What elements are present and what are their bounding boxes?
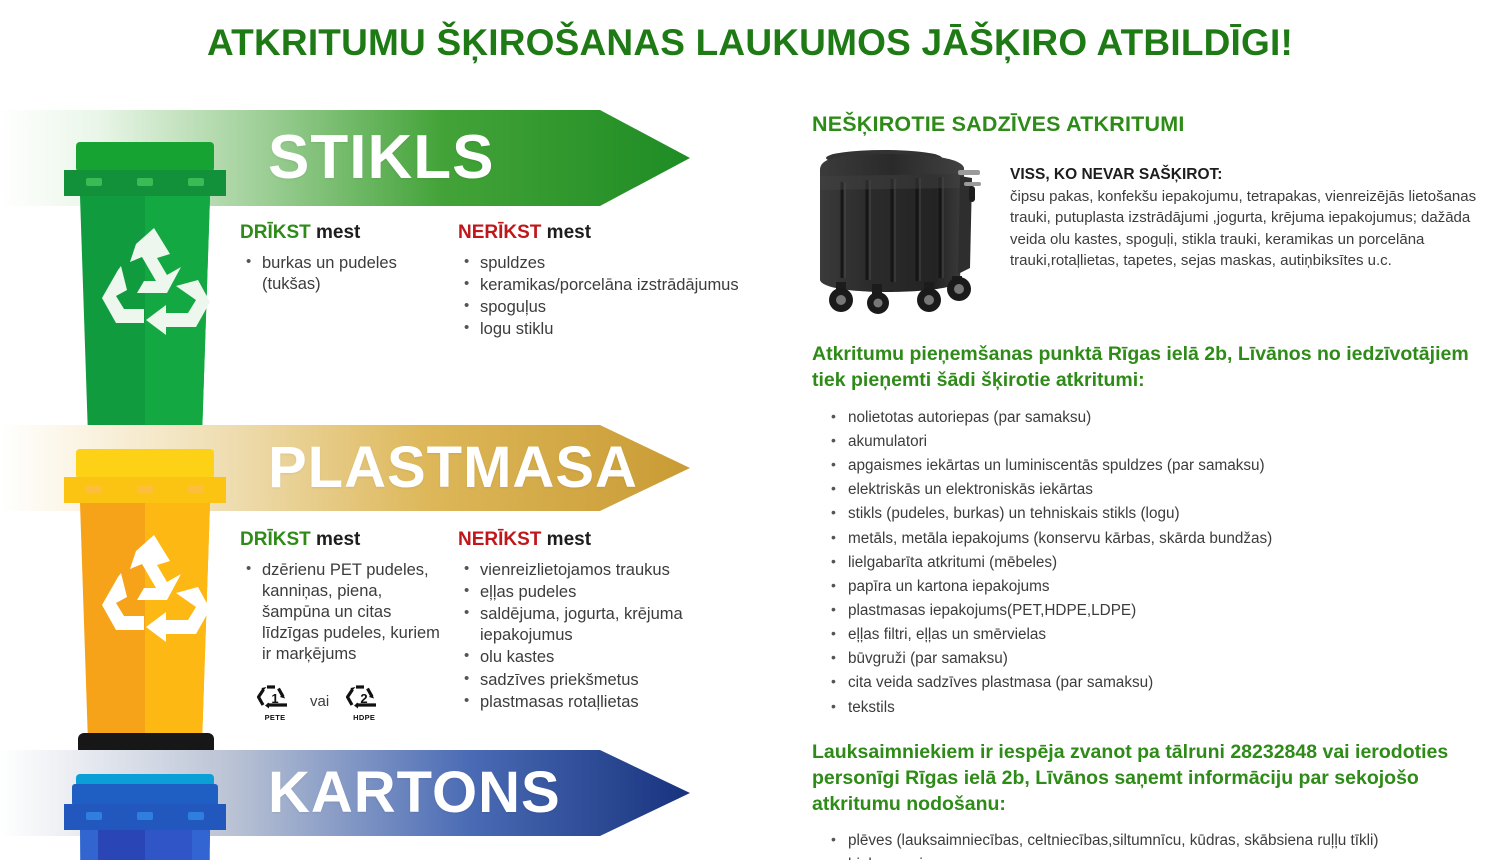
recycling-code-hdpe: 2 HDPE	[343, 678, 385, 722]
farmers-heading: Lauksaimniekiem ir iespēja zvanot pa tāl…	[812, 740, 1492, 818]
list-item: plastmasas rotaļlietas	[458, 692, 758, 713]
forbidden-column-plastmasa: NERĪKST mest vienreizlietojamos traukus …	[458, 529, 758, 722]
allowed-heading-stikls: DRĪKST mest	[240, 222, 440, 244]
unsorted-waste-description: čipsu pakas, konfekšu iepakojumu, tetrap…	[1010, 186, 1492, 272]
list-item: apgaismes iekārtas un luminiscentās spul…	[826, 456, 1492, 477]
list-item: logu stiklu	[458, 319, 758, 340]
allowed-word-rest: mest	[311, 529, 361, 550]
list-item: saldējuma, jogurta, krējuma iepakojumus	[458, 604, 758, 646]
unsorted-waste-title: NEŠĶIROTIE SADZĪVES ATKRITUMI	[812, 112, 1492, 137]
list-item: keramikas/porcelāna izstrādājumus	[458, 275, 758, 296]
list-item: burkas un pudeles (tukšas)	[240, 253, 440, 295]
recycle-bin-green-icon	[56, 140, 234, 465]
lists-plastmasa: DRĪKST mest dzērienu PET pudeles, kanniņ…	[240, 529, 760, 722]
list-item: būvgruži (par samaksu)	[826, 649, 1492, 670]
list-item: plastmasas iepakojums(PET,HDPE,LDPE)	[826, 601, 1492, 622]
list-item: tekstils	[826, 698, 1492, 719]
recycle-bin-yellow-icon	[56, 447, 234, 772]
forbidden-heading-stikls: NERĪKST mest	[458, 222, 758, 244]
list-item: stikls (pudeles, burkas) un tehniskais s…	[826, 504, 1492, 525]
page-title: ATKRITUMU ŠĶIROŠANAS LAUKUMOS JĀŠĶIRO AT…	[0, 22, 1500, 64]
allowed-column-stikls: DRĪKST mest burkas un pudeles (tukšas)	[240, 222, 440, 341]
unsorted-waste-text: VISS, KO NEVAR SAŠĶIROT: čipsu pakas, ko…	[1010, 148, 1492, 272]
forbidden-word: NERĪKST	[458, 529, 541, 550]
recycling-triangle-icon: 2	[343, 678, 385, 714]
forbidden-word: NERĪKST	[458, 222, 541, 243]
list-item: olu kastes	[458, 647, 758, 668]
unsorted-waste-block: VISS, KO NEVAR SAŠĶIROT: čipsu pakas, ko…	[812, 148, 1492, 316]
allowed-column-plastmasa: DRĪKST mest dzērienu PET pudeles, kanniņ…	[240, 529, 440, 722]
accepted-waste-list: nolietotas autoriepas (par samaksu) akum…	[826, 408, 1492, 718]
plastic-marking-codes: 1 PETE vai	[254, 678, 440, 722]
recycling-triangle-icon: 1	[254, 678, 296, 714]
forbidden-heading-plastmasa: NERĪKST mest	[458, 529, 758, 551]
svg-text:2: 2	[361, 691, 368, 706]
list-item: elektriskās un elektroniskās iekārtas	[826, 480, 1492, 501]
list-item: dzērienu PET pudeles, kanniņas, piena, š…	[240, 560, 440, 666]
waste-categories-column: STIKLS	[0, 110, 760, 860]
allowed-heading-plastmasa: DRĪKST mest	[240, 529, 440, 551]
recycle-bin-blue-icon	[56, 772, 234, 860]
large-waste-dumpster-photo	[812, 148, 990, 316]
list-item: papīra un kartona iepakojums	[826, 577, 1492, 598]
forbidden-word-rest: mest	[541, 529, 591, 550]
farmers-waste-list: plēves (lauksaimniecības, celtniecības,s…	[826, 831, 1492, 860]
codes-separator: vai	[310, 693, 329, 722]
svg-text:1: 1	[271, 691, 278, 706]
allowed-word: DRĪKST	[240, 529, 311, 550]
list-item: eļļas filtri, eļļas un smērvielas	[826, 625, 1492, 646]
unsorted-waste-subheading: VISS, KO NEVAR SAŠĶIROT:	[1010, 166, 1492, 184]
acceptance-point-heading: Atkritumu pieņemšanas punktā Rīgas ielā …	[812, 342, 1492, 394]
banner-label-stikls: STIKLS	[268, 127, 494, 189]
forbidden-list-plastmasa: vienreizlietojamos traukus eļļas pudeles…	[458, 560, 758, 713]
list-item: spoguļus	[458, 297, 758, 318]
allowed-list-plastmasa: dzērienu PET pudeles, kanniņas, piena, š…	[240, 560, 440, 666]
list-item: sadzīves priekšmetus	[458, 670, 758, 691]
allowed-word-rest: mest	[311, 222, 361, 243]
list-item: plēves (lauksaimniecības, celtniecības,s…	[826, 831, 1492, 852]
list-item: lielgabarīta atkritumi (mēbeles)	[826, 553, 1492, 574]
list-item: akumulatori	[826, 432, 1492, 453]
forbidden-column-stikls: NERĪKST mest spuldzes keramikas/porcelān…	[458, 222, 758, 341]
forbidden-word-rest: mest	[541, 222, 591, 243]
forbidden-list-stikls: spuldzes keramikas/porcelāna izstrādājum…	[458, 253, 758, 340]
list-item: eļļas pudeles	[458, 582, 758, 603]
banner-label-plastmasa: PLASTMASA	[268, 439, 638, 497]
list-item: metāls, metāla iepakojums (konservu kārb…	[826, 529, 1492, 550]
allowed-word: DRĪKST	[240, 222, 311, 243]
list-item: nolietotas autoriepas (par samaksu)	[826, 408, 1492, 429]
allowed-list-stikls: burkas un pudeles (tukšas)	[240, 253, 440, 295]
banner-label-kartons: KARTONS	[268, 764, 561, 822]
infographic-page: ATKRITUMU ŠĶIROŠANAS LAUKUMOS JĀŠĶIRO AT…	[0, 0, 1500, 860]
list-item: bigbag maisus	[826, 855, 1492, 860]
list-item: vienreizlietojamos traukus	[458, 560, 758, 581]
info-column: NEŠĶIROTIE SADZĪVES ATKRITUMI	[812, 112, 1492, 860]
list-item: spuldzes	[458, 253, 758, 274]
recycling-code-pete: 1 PETE	[254, 678, 296, 722]
lists-stikls: DRĪKST mest burkas un pudeles (tukšas) N…	[240, 222, 760, 341]
list-item: cita veida sadzīves plastmasa (par samak…	[826, 673, 1492, 694]
